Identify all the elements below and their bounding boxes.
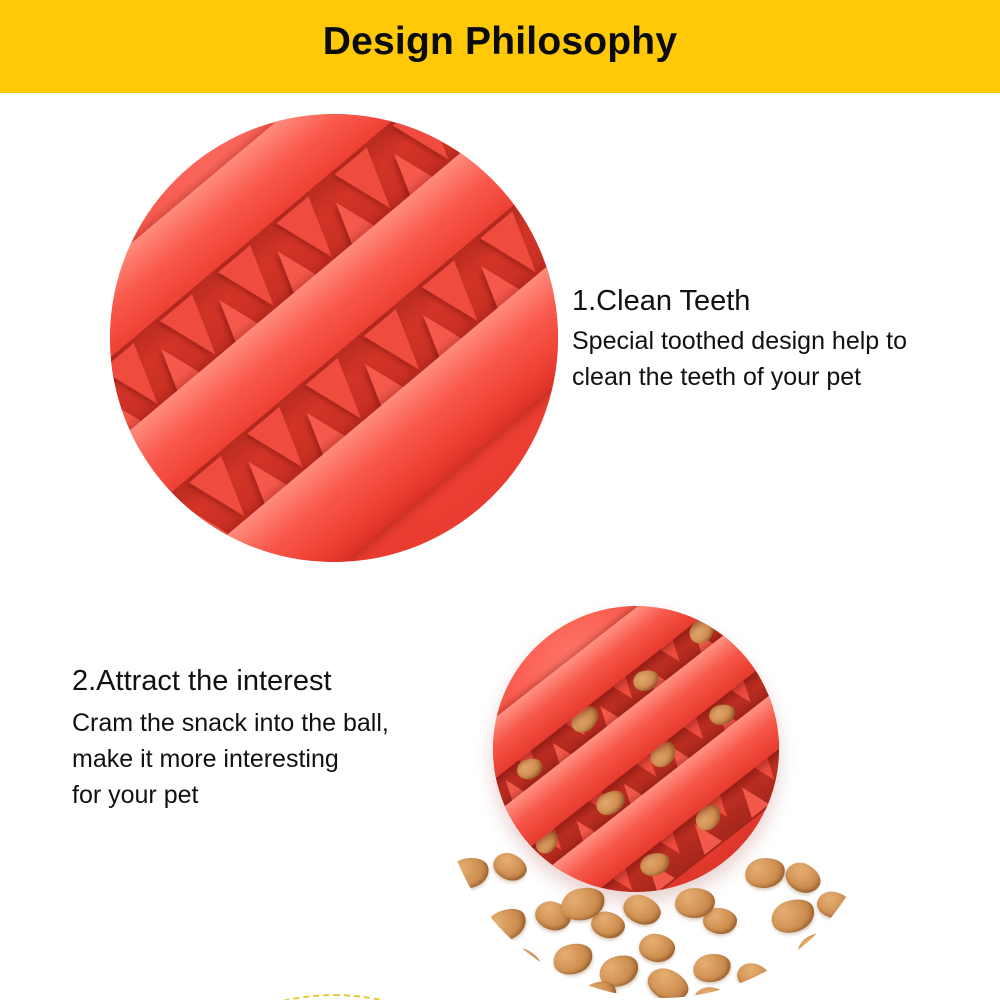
kibble-piece	[451, 940, 498, 976]
kibble-piece	[830, 933, 867, 966]
feature-2-body-line-1: Cram the snack into the ball,	[72, 705, 389, 741]
kibble-piece	[734, 959, 774, 994]
feature-1-body-line-2: clean the teeth of your pet	[572, 359, 907, 395]
kibble-piece	[767, 893, 819, 938]
treat-ball	[493, 606, 779, 892]
kibble-piece	[638, 932, 677, 964]
kibble-piece	[549, 939, 596, 980]
kibble-piece	[481, 902, 532, 947]
feature-2-product-photo	[441, 558, 881, 998]
feature-2-text-block: 2.Attract the interest Cram the snack in…	[72, 662, 389, 813]
feature-1-product-photo	[110, 114, 558, 562]
feature-2-heading: 2.Attract the interest	[72, 662, 389, 700]
kibble-scene	[441, 558, 881, 998]
feature-2-body-line-2: make it more interesting	[72, 741, 389, 777]
ball-closeup-body	[110, 114, 558, 562]
feature-1-heading: 1.Clean Teeth	[572, 282, 907, 320]
tooth	[733, 781, 769, 818]
feature-2-body-line-3: for your pet	[72, 777, 389, 813]
kibble-piece	[690, 983, 737, 998]
kibble-piece	[619, 890, 664, 929]
header-banner: Design Philosophy	[0, 0, 1000, 93]
kibble-piece	[815, 889, 853, 921]
page-title: Design Philosophy	[0, 16, 1000, 68]
kibble-piece	[781, 858, 826, 899]
feature-1-body-line-1: Special toothed design help to	[572, 323, 907, 359]
kibble-piece	[643, 963, 694, 998]
feature-1-text-block: 1.Clean Teeth Special toothed design hel…	[572, 282, 907, 395]
kibble-piece	[691, 950, 734, 985]
kibble-piece	[743, 855, 788, 891]
kibble-piece	[445, 898, 485, 931]
kibble-piece	[446, 854, 492, 893]
infographic-page: Design Philosophy	[0, 0, 1000, 1000]
